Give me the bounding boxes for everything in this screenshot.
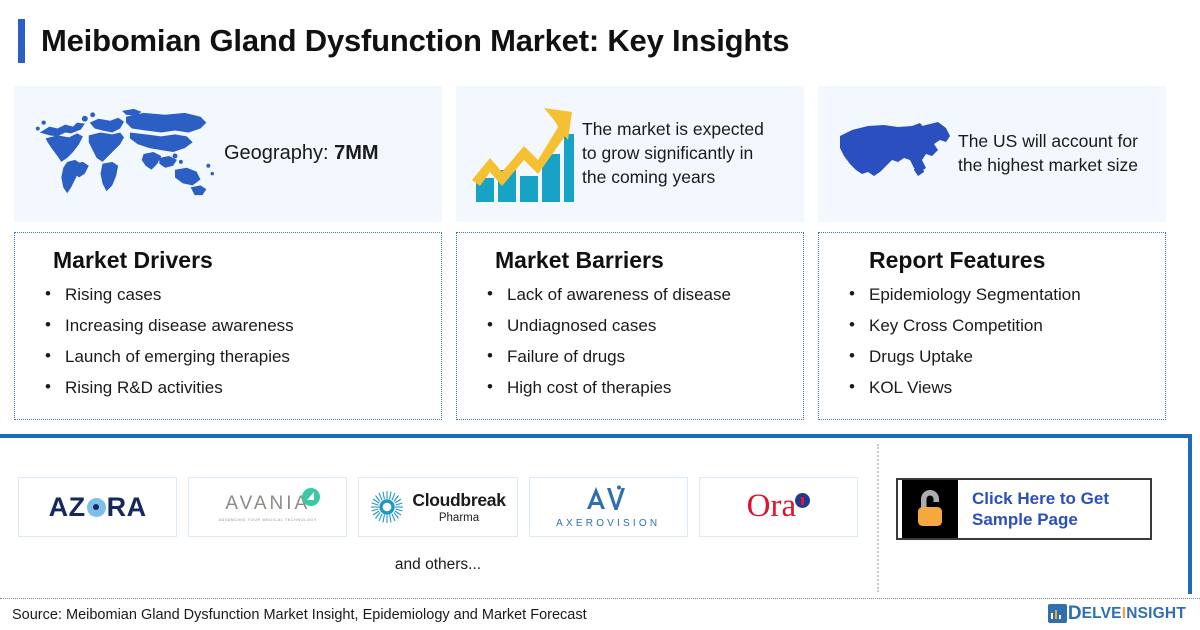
logo-axerovision: AXEROVISION — [529, 477, 688, 537]
list-item: Drugs Uptake — [845, 348, 1155, 365]
list-item: Rising cases — [41, 286, 431, 303]
market-barriers-card: Market Barriers Lack of awareness of dis… — [456, 232, 804, 420]
logo-avania: AVANIA ADVANCING YOUR MEDICAL TECHNOLOGY — [188, 477, 347, 537]
delveinsight-d: D — [1068, 604, 1082, 623]
avania-tagline: ADVANCING YOUR MEDICAL TECHNOLOGY — [219, 518, 317, 522]
delveinsight-name-a: ELVE — [1082, 605, 1122, 623]
report-features-card: Report Features Epidemiology Segmentatio… — [818, 232, 1166, 420]
delveinsight-name-b: NSIGHT — [1126, 605, 1186, 623]
axerovision-wordmark: AXEROVISION — [556, 485, 660, 529]
report-features-list: Epidemiology Segmentation Key Cross Comp… — [845, 286, 1155, 396]
azura-eye-icon — [87, 498, 106, 517]
world-map-icon — [14, 102, 224, 207]
us-market-panel: The US will account for the highest mark… — [818, 86, 1166, 222]
card-title: Market Drivers — [41, 247, 431, 274]
cloudbreak-sub: Pharma — [412, 512, 505, 524]
list-item: KOL Views — [845, 379, 1155, 396]
list-item: Rising R&D activities — [41, 379, 431, 396]
axerovision-name: AXEROVISION — [556, 518, 660, 529]
geography-panel: Geography: 7MM — [14, 86, 442, 222]
logo-ora: Ora — [699, 477, 858, 537]
and-others-label: and others... — [18, 556, 858, 574]
list-item: Increasing disease awareness — [41, 317, 431, 334]
list-item: Launch of emerging therapies — [41, 348, 431, 365]
market-drivers-card: Market Drivers Rising cases Increasing d… — [14, 232, 442, 420]
azura-wordmark: AZRA — [49, 492, 147, 523]
page-title: Meibomian Gland Dysfunction Market: Key … — [41, 23, 789, 59]
delveinsight-chart-icon — [1048, 604, 1067, 623]
company-logo-row: AZRA AVANIA ADVANCING YOUR MEDICAL TECHN… — [18, 477, 858, 537]
top-panel-row: Geography: 7MM — [14, 86, 1186, 222]
list-item: Lack of awareness of disease — [483, 286, 793, 303]
avania-wordmark: AVANIA ADVANCING YOUR MEDICAL TECHNOLOGY — [219, 493, 317, 522]
get-sample-page-button[interactable]: Click Here to Get Sample Page — [896, 478, 1152, 540]
list-item: Undiagnosed cases — [483, 317, 793, 334]
axerovision-av-icon — [585, 485, 631, 511]
logo-cloudbreak: Cloudbreak Pharma — [358, 477, 517, 537]
insight-card-row: Market Drivers Rising cases Increasing d… — [14, 232, 1186, 420]
infographic-page: Meibomian Gland Dysfunction Market: Key … — [0, 0, 1200, 630]
card-title: Report Features — [845, 247, 1155, 274]
list-item: Epidemiology Segmentation — [845, 286, 1155, 303]
cloudbreak-wordmark: Cloudbreak Pharma — [370, 490, 505, 524]
cta-label: Click Here to Get Sample Page — [958, 488, 1150, 531]
usa-map-icon — [818, 114, 958, 194]
geography-value: 7MM — [334, 142, 378, 164]
us-market-text: The US will account for the highest mark… — [958, 130, 1138, 178]
market-barriers-list: Lack of awareness of disease Undiagnosed… — [483, 286, 793, 396]
geography-label: Geography: — [224, 142, 334, 164]
cloudbreak-sunburst-icon — [370, 490, 404, 524]
ora-name: Ora — [747, 491, 796, 522]
avania-leaf-icon — [301, 487, 321, 507]
logo-azura: AZRA — [18, 477, 177, 537]
ora-wordmark: Ora — [747, 491, 810, 522]
cloudbreak-name: Cloudbreak — [412, 490, 505, 511]
ora-mark-icon — [795, 493, 810, 508]
card-title: Market Barriers — [483, 247, 793, 274]
azura-text-b: RA — [107, 492, 147, 523]
open-padlock-icon — [902, 480, 958, 538]
delveinsight-logo: D ELVE I NSIGHT — [1048, 604, 1186, 623]
azura-text-a: AZ — [49, 492, 86, 523]
market-drivers-list: Rising cases Increasing disease awarenes… — [41, 286, 431, 396]
growth-bar-chart-icon — [456, 98, 582, 210]
page-footer: Source: Meibomian Gland Dysfunction Mark… — [0, 598, 1200, 630]
market-growth-panel: The market is expected to grow significa… — [456, 86, 804, 222]
list-item: High cost of therapies — [483, 379, 793, 396]
geography-text: Geography: 7MM — [224, 140, 379, 167]
market-growth-text: The market is expected to grow significa… — [582, 118, 782, 189]
source-text: Source: Meibomian Gland Dysfunction Mark… — [12, 607, 587, 623]
cta-divider — [877, 444, 879, 592]
page-header: Meibomian Gland Dysfunction Market: Key … — [0, 10, 1200, 72]
title-accent-bar — [18, 19, 25, 63]
list-item: Failure of drugs — [483, 348, 793, 365]
list-item: Key Cross Competition — [845, 317, 1155, 334]
